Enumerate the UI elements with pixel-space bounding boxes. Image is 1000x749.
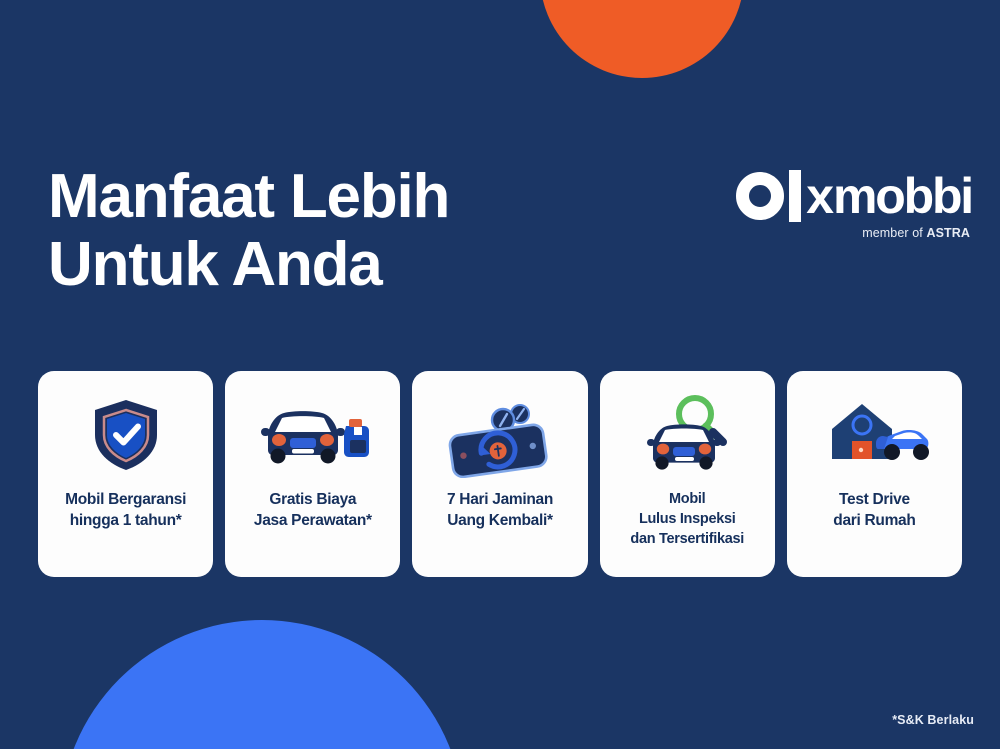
benefit-card-warranty[interactable]: Mobil Bergaransi hingga 1 tahun* xyxy=(38,371,213,577)
page-title: Manfaat Lebih Untuk Anda xyxy=(48,163,449,299)
shield-check-icon xyxy=(91,381,161,489)
decorative-blue-circle xyxy=(60,620,464,749)
logo-tagline-prefix: member of xyxy=(862,226,926,240)
terms-footnote: *S&K Berlaku xyxy=(892,713,974,727)
car-oil-jug-icon xyxy=(254,381,372,489)
logo-bar-icon xyxy=(789,170,801,222)
benefit-card-inspection[interactable]: Mobil Lulus Inspeksi dan Tersertifikasi xyxy=(600,371,775,577)
house-car-icon xyxy=(818,381,930,489)
decorative-orange-circle xyxy=(540,0,744,78)
benefit-card-label: 7 Hari Jaminan Uang Kembali* xyxy=(441,489,559,531)
car-magnifier-icon xyxy=(641,381,733,489)
logo-o-icon xyxy=(736,172,784,220)
benefit-card-list: Mobil Bergaransi hingga 1 tahun* xyxy=(38,371,962,577)
brand-logo: x mobbi member of ASTRA xyxy=(736,170,972,240)
benefit-card-label: Mobil Lulus Inspeksi dan Tersertifikasi xyxy=(624,489,750,549)
logo-mark: x mobbi xyxy=(736,170,972,222)
logo-wordmark: mobbi xyxy=(833,173,972,219)
benefit-card-label: Gratis Biaya Jasa Perawatan* xyxy=(248,489,378,531)
benefit-card-home-test-drive[interactable]: Test Drive dari Rumah xyxy=(787,371,962,577)
logo-tagline-brand: ASTRA xyxy=(926,226,970,240)
promo-banner: Manfaat Lebih Untuk Anda x mobbi member … xyxy=(0,0,1000,749)
money-back-icon xyxy=(437,381,563,489)
logo-tagline: member of ASTRA xyxy=(736,226,972,240)
benefit-card-label: Test Drive dari Rumah xyxy=(827,489,921,531)
benefit-card-money-back[interactable]: 7 Hari Jaminan Uang Kembali* xyxy=(412,371,587,577)
benefit-card-label: Mobil Bergaransi hingga 1 tahun* xyxy=(59,489,192,531)
benefit-card-free-service[interactable]: Gratis Biaya Jasa Perawatan* xyxy=(225,371,400,577)
logo-x-letter: x xyxy=(806,174,832,218)
